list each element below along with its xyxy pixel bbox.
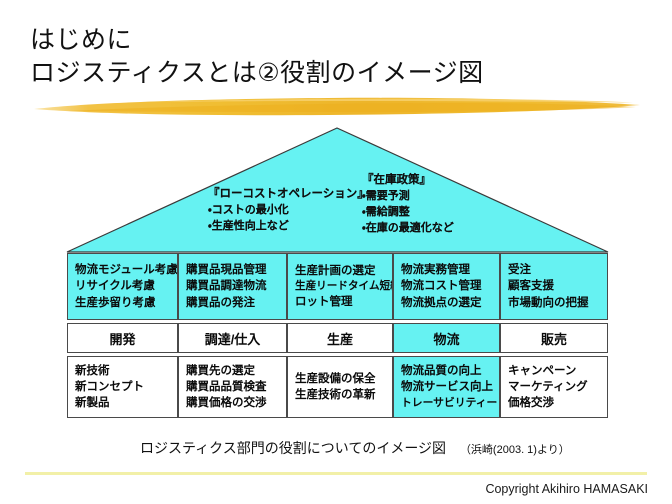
roof-right-heading: 『在庫政策』 [362, 172, 454, 189]
cell-line: 購買品の発注 [186, 295, 281, 311]
cell-line: 生産歩留り考慮 [75, 295, 172, 311]
stage-development: 開発 [67, 323, 178, 353]
roof-right-item-3: ・在庫の最適化など [362, 221, 454, 237]
cell-activities-procurement: 購買先の選定 購買品品質検査 購買価格の交渉 [178, 356, 287, 418]
cell-line: 購買価格の交渉 [186, 395, 281, 411]
cell-line: 購買先の選定 [186, 363, 281, 379]
stage-label: 物流 [433, 329, 459, 348]
title-line-2: ロジスティクスとは②役割のイメージ図 [30, 57, 640, 90]
cell-line: トレーサビリティー [401, 396, 494, 411]
cell-line: 生産計画の選定 [295, 263, 387, 279]
cell-activities-development: 新技術 新コンセプト 新製品 [67, 356, 178, 418]
cell-line: 市場動向の把握 [508, 295, 602, 311]
caption-text: ロジスティクス部門の役割についてのイメージ図 [140, 440, 446, 456]
cell-line: 生産技術の革新 [295, 387, 387, 403]
stage-label: 調達/仕入 [205, 329, 261, 348]
cell-activities-sales: キャンペーン マーケティング 価格交渉 [500, 356, 608, 418]
cell-functions-production: 生産計画の選定 生産リードタイム短縮 ロット管理 [287, 253, 393, 320]
cell-line: リサイクル考慮 [75, 278, 172, 294]
cell-functions-procurement: 購買品現品管理 購買品調達物流 購買品の発注 [178, 253, 287, 320]
title-line-1: はじめに [30, 24, 640, 57]
cell-line: 物流サービス向上 [401, 379, 494, 395]
roof-right-item-2: ・需給調整 [362, 205, 454, 221]
roof-left-item-1: ・コストの最小化 [208, 203, 369, 219]
page-title: はじめに ロジスティクスとは②役割のイメージ図 [30, 24, 640, 89]
cell-line: マーケティング [508, 379, 602, 395]
table-row-stages: 開発 調達/仕入 生産 物流 販売 [67, 323, 608, 353]
cell-line: 物流品質の向上 [401, 363, 494, 379]
cell-line: 価格交渉 [508, 395, 602, 411]
stage-production: 生産 [287, 323, 393, 353]
cell-line: 物流拠点の選定 [401, 295, 494, 311]
stage-label: 販売 [541, 329, 567, 348]
slide-canvas: はじめに ロジスティクスとは②役割のイメージ図 [0, 0, 672, 504]
title-brush-underline [28, 94, 644, 120]
cell-functions-development: 物流モジュール考慮 リサイクル考慮 生産歩留り考慮 [67, 253, 178, 320]
stage-label: 開発 [109, 329, 135, 348]
house-body-table: 物流モジュール考慮 リサイクル考慮 生産歩留り考慮 購買品現品管理 購買品調達物… [67, 253, 608, 418]
cell-functions-logistics: 物流実務管理 物流コスト管理 物流拠点の選定 [393, 253, 500, 320]
cell-line: 物流モジュール考慮 [75, 262, 172, 278]
stage-label: 生産 [327, 329, 353, 348]
copyright-notice: Copyright Akihiro HAMASAKI [485, 482, 648, 496]
cell-line: 受注 [508, 262, 602, 278]
roof-left-item-2: ・生産性向上など [208, 219, 369, 235]
roof-left-heading: 『ローコストオペレーション』 [208, 186, 369, 203]
cell-activities-logistics: 物流品質の向上 物流サービス向上 トレーサビリティー [393, 356, 500, 418]
table-row-activities: 新技術 新コンセプト 新製品 購買先の選定 購買品品質検査 購買価格の交渉 生産… [67, 356, 608, 418]
cell-line: 購買品現品管理 [186, 262, 281, 278]
roof-group-low-cost-operation: 『ローコストオペレーション』 ・コストの最小化 ・生産性向上など [208, 186, 369, 235]
table-row-functions: 物流モジュール考慮 リサイクル考慮 生産歩留り考慮 購買品現品管理 購買品調達物… [67, 253, 608, 320]
cell-line: 新技術 [75, 363, 172, 379]
cell-line: 顧客支援 [508, 278, 602, 294]
cell-line: 物流実務管理 [401, 262, 494, 278]
stage-sales: 販売 [500, 323, 608, 353]
cell-line: 新コンセプト [75, 379, 172, 395]
cell-line: ロット管理 [295, 294, 387, 310]
footer-divider [25, 472, 647, 475]
cell-line: 物流コスト管理 [401, 278, 494, 294]
cell-activities-production: 生産設備の保全 生産技術の革新 [287, 356, 393, 418]
cell-line: 生産設備の保全 [295, 371, 387, 387]
cell-line: 購買品調達物流 [186, 278, 281, 294]
cell-line: 新製品 [75, 395, 172, 411]
cell-line: 購買品品質検査 [186, 379, 281, 395]
cell-functions-sales: 受注 顧客支援 市場動向の把握 [500, 253, 608, 320]
cell-line: キャンペーン [508, 363, 602, 379]
diagram-caption: ロジスティクス部門の役割についてのイメージ図 （浜崎(2003. 1)より） [140, 438, 570, 458]
roof-right-item-1: ・需要予測 [362, 189, 454, 205]
roof-group-inventory-policy: 『在庫政策』 ・需要予測 ・需給調整 ・在庫の最適化など [362, 172, 454, 236]
cell-line: 生産リードタイム短縮 [295, 279, 387, 294]
stage-logistics: 物流 [393, 323, 500, 353]
stage-procurement: 調達/仕入 [178, 323, 287, 353]
caption-source: （浜崎(2003. 1)より） [460, 444, 570, 456]
